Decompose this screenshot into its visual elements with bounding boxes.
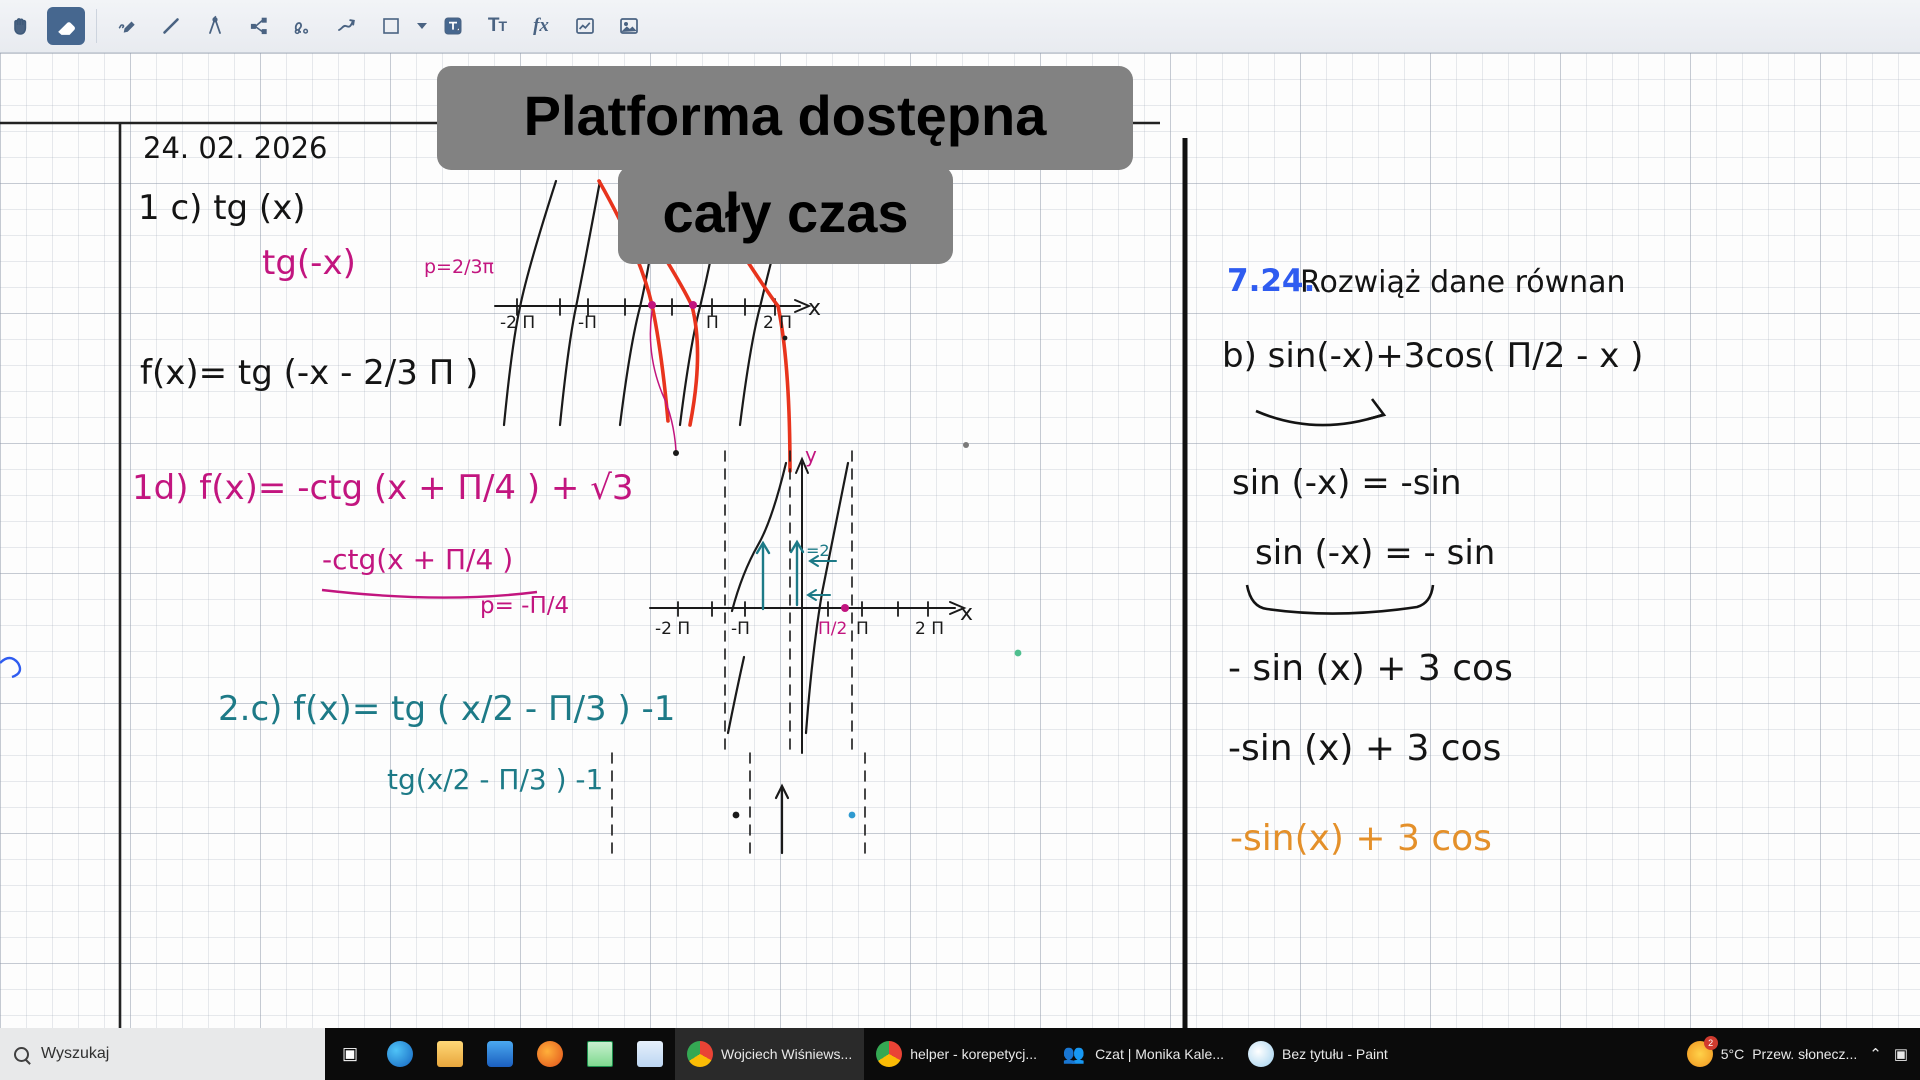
chart-top-xlabel: x	[808, 296, 821, 321]
chart-top-tick-2: Π	[706, 313, 719, 333]
toolbar-divider	[96, 9, 97, 43]
pinned-edge[interactable]	[375, 1028, 425, 1080]
note-right-6: - sin (x) + 3 cos	[1228, 648, 1513, 689]
note-right-8: -sin(x) + 3 cos	[1230, 818, 1492, 859]
note-left-9: tg(x/2 - Π/3 ) -1	[387, 763, 603, 796]
chart-top-tick-3: 2 Π	[763, 313, 792, 333]
chrome-icon	[876, 1041, 902, 1067]
right-underline-1	[1250, 393, 1510, 443]
chart-top-tick-0: -2 Π	[500, 313, 535, 333]
ink-dot	[849, 812, 856, 819]
chrome-window-helper[interactable]: helper - korepetycj...	[864, 1028, 1049, 1080]
chrome-window-wojciech[interactable]: Wojciech Wiśniews...	[675, 1028, 864, 1080]
taskbar-tray: 5°C Przew. słonecz... ⌃ ▣	[1687, 1028, 1920, 1080]
tray-network-icon[interactable]: ▣	[1894, 1045, 1908, 1063]
overlay-banner-line1: Platforma dostępna	[437, 66, 1133, 170]
curve-icon[interactable]	[284, 7, 322, 45]
tray-chevron-icon[interactable]: ⌃	[1869, 1045, 1882, 1063]
ink-mark	[0, 658, 20, 677]
chart-bottom-tick-3: Π	[856, 619, 869, 639]
weather-sun-icon	[1687, 1041, 1713, 1067]
shape-dropdown-caret[interactable]	[413, 7, 431, 45]
chrome-icon	[687, 1041, 713, 1067]
arrow-trend-icon[interactable]	[328, 7, 366, 45]
task-label: Czat | Monika Kale...	[1095, 1046, 1224, 1062]
right-underline-2	[1243, 581, 1503, 621]
chart-bottom-tick-1: -Π	[731, 619, 750, 639]
note-right-2: Rozwiąż dane równan	[1300, 265, 1626, 300]
application-root: TT fx	[0, 0, 1920, 1080]
ink-dot	[733, 812, 740, 819]
ink-dot	[1015, 650, 1022, 657]
paint-icon	[1248, 1041, 1274, 1067]
eraser-icon[interactable]	[47, 7, 85, 45]
note-right-4: sin (-x) = -sin	[1232, 463, 1462, 503]
whiteboard-canvas[interactable]: 24. 02. 2026 1 c) tg (x) tg(-x) p=2/3π f…	[0, 53, 1920, 1028]
note-left-2: tg(-x)	[262, 243, 356, 283]
task-view-button[interactable]: ▣	[325, 1028, 375, 1080]
chart-bottom-tick-4: 2 Π	[915, 619, 944, 639]
chart-bottom-marker: =2	[806, 541, 830, 560]
weather-widget[interactable]: 5°C Przew. słonecz...	[1687, 1041, 1858, 1067]
chart-bottom-xlabel: x	[960, 601, 973, 626]
note-left-8: 2.c) f(x)= tg ( x/2 - Π/3 ) -1	[218, 689, 675, 729]
note-left-3: p=2/3π	[424, 256, 494, 278]
excel-icon	[587, 1041, 613, 1067]
chart-bottom-tick-2: Π/2	[818, 619, 847, 639]
teams-icon: 👥	[1061, 1041, 1087, 1067]
file-explorer-icon	[437, 1041, 463, 1067]
task-label: Bez tytułu - Paint	[1282, 1046, 1388, 1062]
taskbar-items: ▣ Wojciech Wiśniews... helper - korepety…	[325, 1028, 1400, 1080]
note-left-6: -ctg(x + Π/4 )	[322, 543, 513, 576]
taskbar-search[interactable]: Wyszukaj	[0, 1028, 325, 1080]
firefox-icon	[537, 1041, 563, 1067]
pinned-file-explorer[interactable]	[425, 1028, 475, 1080]
paint-window[interactable]: Bez tytułu - Paint	[1236, 1028, 1400, 1080]
chart-icon[interactable]	[566, 7, 604, 45]
chart-top-tick-1: -Π	[578, 313, 597, 333]
note-right-7: -sin (x) + 3 cos	[1228, 728, 1501, 769]
weather-temp: 5°C	[1721, 1046, 1745, 1062]
image-icon[interactable]	[610, 7, 648, 45]
note-left-4: f(x)= tg (-x - 2/3 Π )	[140, 353, 478, 393]
note-left-1: 1 c) tg (x)	[138, 188, 306, 228]
teams-window-chat[interactable]: 👥 Czat | Monika Kale...	[1049, 1028, 1236, 1080]
chart-bottom-tick-0: -2 Π	[655, 619, 690, 639]
pinned-outlook[interactable]	[475, 1028, 525, 1080]
note-date: 24. 02. 2026	[143, 131, 327, 165]
calculator-icon	[637, 1041, 663, 1067]
text-box-icon[interactable]	[434, 7, 472, 45]
ink-dot	[963, 442, 969, 448]
edge-icon	[387, 1041, 413, 1067]
note-right-5: sin (-x) = - sin	[1255, 533, 1495, 573]
line-icon[interactable]	[152, 7, 190, 45]
note-right-3: b) sin(-x)+3cos( Π/2 - x )	[1222, 336, 1643, 376]
task-label: Wojciech Wiśniews...	[721, 1046, 852, 1062]
drawing-toolbar: TT fx	[0, 0, 1920, 53]
chart-bottom-ylabel: y	[805, 443, 817, 467]
task-label: helper - korepetycj...	[910, 1046, 1037, 1062]
overlay-banner-line2: cały czas	[618, 166, 953, 264]
formula-icon[interactable]: fx	[522, 7, 560, 45]
underline-stroke	[318, 580, 578, 610]
weather-desc: Przew. słonecz...	[1752, 1046, 1857, 1062]
search-icon	[14, 1047, 29, 1062]
outlook-icon	[487, 1041, 513, 1067]
text-format-icon[interactable]: TT	[478, 7, 516, 45]
polyline-node-icon[interactable]	[240, 7, 278, 45]
chart-bottom-tangent	[612, 451, 964, 853]
compass-icon[interactable]	[196, 7, 234, 45]
task-view-icon: ▣	[337, 1041, 363, 1067]
ink-dot	[783, 336, 788, 341]
note-left-5: 1d) f(x)= -ctg (x + Π/4 ) + √3	[132, 468, 634, 508]
pinned-excel[interactable]	[575, 1028, 625, 1080]
pen-highlighter-icon[interactable]	[108, 7, 146, 45]
pinned-firefox[interactable]	[525, 1028, 575, 1080]
rectangle-shape-icon[interactable]	[372, 7, 410, 45]
pinned-calculator[interactable]	[625, 1028, 675, 1080]
taskbar-search-label: Wyszukaj	[41, 1045, 109, 1063]
pan-hand-icon[interactable]	[3, 7, 41, 45]
ink-dot	[673, 450, 679, 456]
